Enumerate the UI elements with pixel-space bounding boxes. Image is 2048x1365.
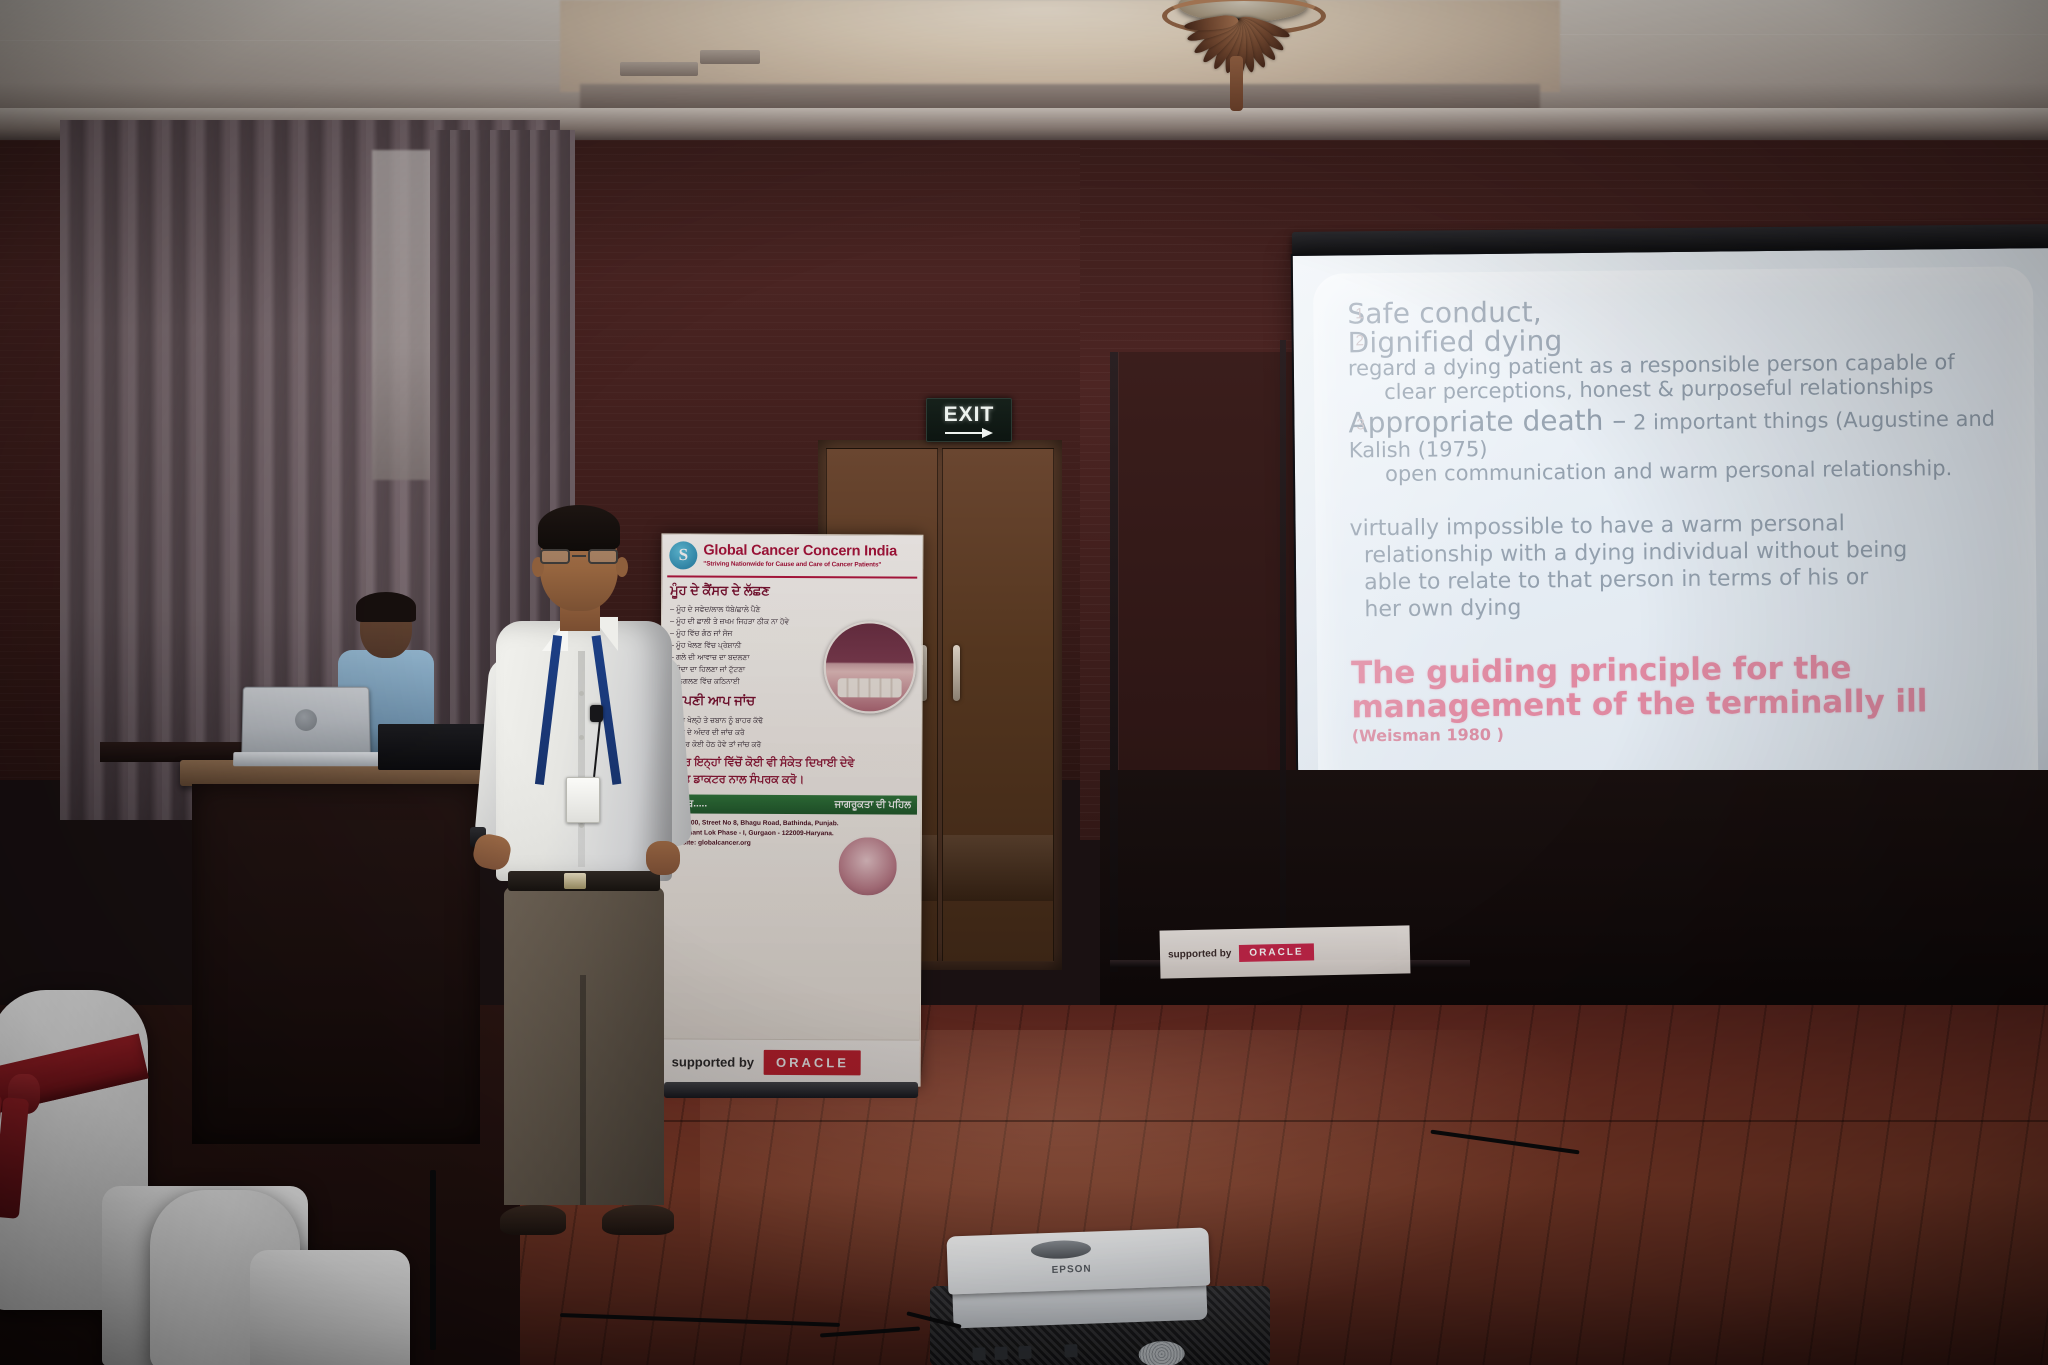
chandelier-stem: [1230, 56, 1243, 111]
slide-line-5-head: Appropriate death –: [1348, 404, 1626, 440]
stage-rail: [1280, 340, 1286, 980]
sponsor-mini-logo: ORACLE: [1239, 943, 1314, 962]
presenter-hand-right: [646, 841, 680, 875]
name-badge: [566, 777, 600, 823]
projector-port[interactable]: [1018, 1346, 1031, 1359]
conference-photo-scene: EXIT 1 Safe conduct, 2 Dignified dying r…: [0, 0, 2048, 1365]
shirt-button: [579, 735, 584, 740]
assistant-hair: [356, 592, 416, 622]
ceiling-panel-line: [1560, 34, 2048, 35]
slide-paragraph-line-1: virtually impossible to have a warm pers…: [1349, 511, 1844, 541]
oral-cancer-photo: [824, 621, 916, 713]
right-arrow-icon: [945, 428, 993, 437]
projector-port[interactable]: [994, 1347, 1007, 1360]
lens-right: [588, 549, 618, 564]
chair-seat: [250, 1250, 410, 1365]
slide-bullet-number: 2: [1356, 332, 1365, 349]
slide-bullet-number: 1: [1355, 305, 1364, 322]
ceiling-vent: [620, 62, 698, 76]
slide-content: 1 Safe conduct, 2 Dignified dying regard…: [1313, 266, 2039, 812]
projector-vent-icon: [1138, 1340, 1185, 1365]
slide-line-7: open communication and warm personal rel…: [1349, 456, 2007, 486]
projector-top-shell: EPSON: [946, 1227, 1210, 1294]
presenter-shoe-right: [602, 1205, 674, 1235]
lapel-microphone-icon: [590, 705, 603, 722]
chandelier: [1118, 0, 1358, 134]
window-gap: [372, 150, 432, 480]
banner-green-right: ਜਾਗਰੂਕਤਾ ਦੀ ਪਹਿਲ: [835, 799, 911, 810]
teeth-detail: [838, 678, 901, 698]
stage-platform: [1100, 770, 2048, 1020]
laptop-lid: [241, 687, 370, 754]
laptop-base[interactable]: [233, 752, 381, 766]
slide-highlight-line-2: management of the terminally ill: [1351, 684, 2009, 724]
ceiling-panel-line: [0, 40, 560, 41]
slide-line-4: clear perceptions, honest & purposeful r…: [1348, 374, 2006, 404]
presenter-hair: [538, 505, 620, 551]
oral-diagram-photo: [837, 835, 899, 897]
projector-port[interactable]: [1064, 1344, 1077, 1357]
exit-sign-label: EXIT: [944, 404, 995, 425]
projector-lens-icon: [1031, 1240, 1092, 1260]
slide-highlight: The guiding principle for the management…: [1351, 651, 2010, 725]
wall-panel: [1118, 352, 1298, 822]
stage-rail: [1110, 352, 1118, 972]
banner-tagline: "Striving Nationwide for Cause and Care …: [703, 560, 897, 568]
slide-line-5-tail: 2 important things (Augustine and: [1626, 407, 1995, 435]
slide-paragraph: virtually impossible to have a warm pers…: [1349, 510, 2008, 624]
door-handle-icon[interactable]: [953, 645, 960, 701]
door-kickplate: [943, 835, 1053, 901]
ceiling-vent: [700, 50, 760, 64]
projector-port[interactable]: [972, 1347, 985, 1360]
presenter-leg-split: [580, 975, 586, 1205]
oracle-logo: ORACLE: [764, 1050, 861, 1076]
projector[interactable]: EPSON: [946, 1227, 1211, 1330]
glasses-bridge: [572, 555, 586, 557]
presenter-shirt-placket: [578, 651, 585, 867]
banner-org-name: Global Cancer Concern India: [703, 544, 897, 560]
banquet-chair-front[interactable]: [150, 1190, 380, 1365]
lens-left: [540, 549, 570, 564]
shirt-button: [579, 823, 584, 828]
laptop[interactable]: [239, 687, 373, 767]
slide-bullet-number: 3: [1356, 417, 1365, 434]
floor-seam: [520, 1120, 2048, 1122]
eyeglasses-icon: [540, 549, 620, 564]
presenter-belt-buckle: [564, 873, 586, 889]
sponsor-mini-label: supported by: [1168, 948, 1232, 960]
hp-logo-icon: [295, 709, 317, 731]
ceiling-cove-light: [560, 0, 1560, 92]
podium-cable: [430, 1170, 436, 1350]
projector-brand-label: EPSON: [1051, 1264, 1091, 1276]
presenter: [470, 505, 730, 1245]
exit-sign: EXIT: [926, 398, 1012, 442]
shirt-button: [579, 691, 584, 696]
sponsor-mini-banner: supported by ORACLE: [1160, 925, 1411, 978]
door-right[interactable]: [942, 448, 1054, 962]
presenter-shoe-left: [500, 1205, 566, 1235]
